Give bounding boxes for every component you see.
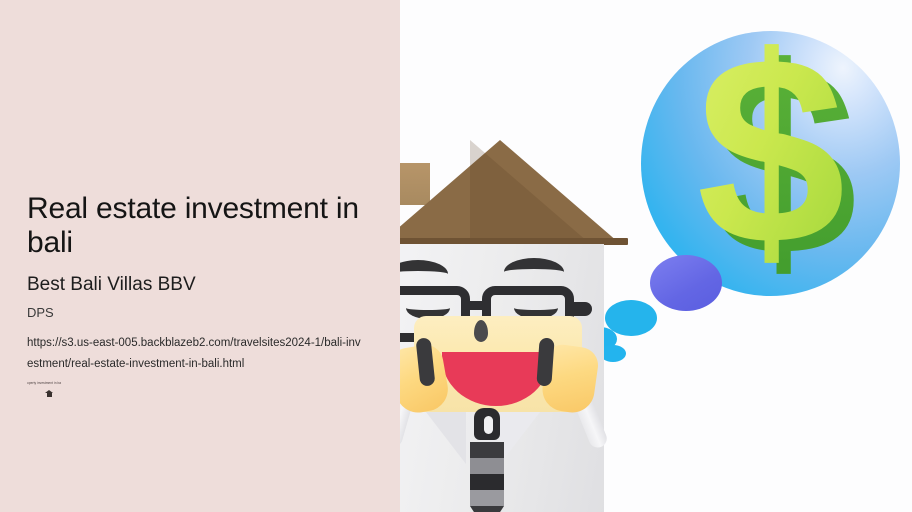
nose [474, 320, 488, 342]
tie-stripe [470, 458, 504, 474]
glasses-temple [570, 302, 592, 316]
tie-stripe [470, 490, 504, 506]
tie-stripe [470, 442, 504, 458]
shirt-collar-left [426, 412, 466, 464]
svg-text:$: $ [696, 31, 845, 296]
left-text-panel: Real estate investment in bali Best Bali… [0, 0, 400, 512]
right-illustration-panel: $ $ [400, 0, 912, 512]
house-icon [45, 389, 53, 397]
tie-knot-highlight [484, 416, 493, 434]
smiling-house-mascot [400, 140, 652, 512]
watermark-text: operty investment in ba [27, 381, 147, 386]
location-code: DPS [27, 305, 372, 321]
subtitle: Best Bali Villas BBV [27, 274, 372, 296]
watermark-block: operty investment in ba [27, 381, 147, 397]
source-url[interactable]: https://s3.us-east-005.backblazeb2.com/t… [27, 333, 362, 375]
tie-tip [470, 506, 504, 512]
thought-dot-large [650, 255, 722, 311]
house-roof-shade [470, 140, 588, 242]
house-icon-body [47, 393, 52, 397]
glasses-bridge [466, 301, 488, 310]
shirt-collar-right [500, 412, 540, 464]
screenshot-root: Real estate investment in bali Best Bali… [0, 0, 912, 512]
page-title: Real estate investment in bali [27, 192, 367, 260]
tie-stripe [470, 474, 504, 490]
text-content-block: Real estate investment in bali Best Bali… [27, 192, 372, 375]
